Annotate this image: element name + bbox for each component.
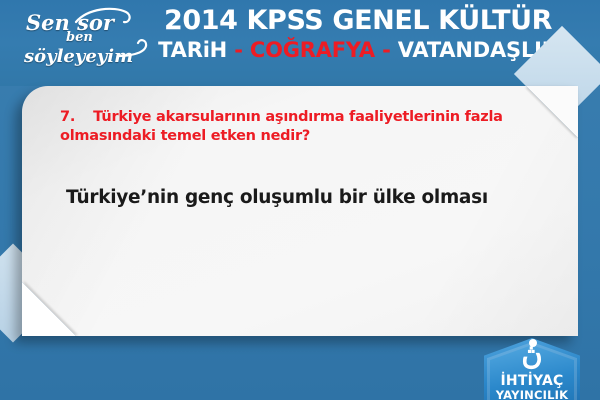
header-title-block: 2014 KPSS GENEL KÜLTÜR TARiH - COĞRAFYA … <box>148 6 568 62</box>
header-subtitle: TARiH - COĞRAFYA - VATANDAŞLIK <box>148 38 568 62</box>
publisher-badge: ڽ İHTİYAÇ YAYINCILIK <box>484 338 580 400</box>
question-number: 7. <box>60 109 75 125</box>
brand-script-logo: Sen sor ben söyleyeyim <box>22 8 150 74</box>
brand-line-2: ben <box>66 30 93 45</box>
slide-root: Sen sor ben söyleyeyim 2014 KPSS GENEL K… <box>0 0 600 400</box>
badge-publisher-name: İHTİYAÇ <box>484 374 580 388</box>
question-body: Türkiye akarsularının aşındırma faaliyet… <box>60 109 503 144</box>
answer-text: Türkiye’nin genç oluşumlu bir ülke olmas… <box>66 186 546 210</box>
badge-y-glyph-icon: ڽ <box>484 340 580 369</box>
subtitle-separator-1: - <box>234 38 243 62</box>
brand-swirl-bottom-icon <box>116 34 152 62</box>
question-text-block: 7.Türkiye akarsularının aşındırma faaliy… <box>60 108 540 147</box>
badge-publisher-type: YAYINCILIK <box>484 390 580 400</box>
question-card: 7.Türkiye akarsularının aşındırma faaliy… <box>22 86 578 336</box>
card-fold-top-right-leaf <box>526 86 578 138</box>
card-fold-bottom-left-leaf <box>22 282 76 336</box>
subject-cografya: COĞRAFYA <box>250 38 375 62</box>
header-bar: Sen sor ben söyleyeyim 2014 KPSS GENEL K… <box>0 0 600 86</box>
page-title: 2014 KPSS GENEL KÜLTÜR <box>148 6 568 35</box>
subtitle-separator-2: - <box>382 38 391 62</box>
subject-tarih: TARiH <box>158 38 227 62</box>
